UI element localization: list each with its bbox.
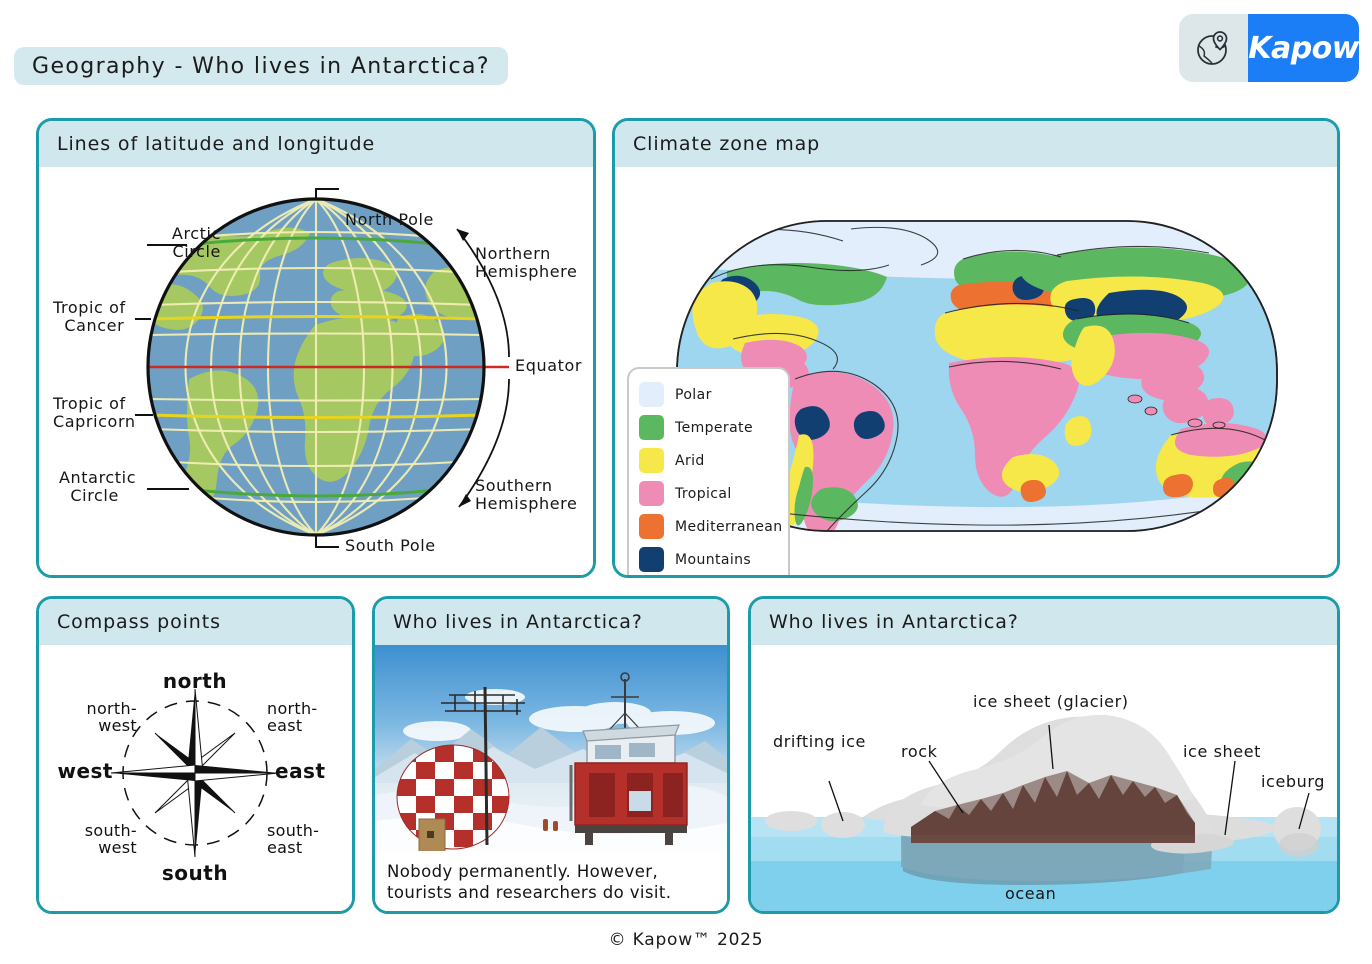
label-northern-hemisphere: Northern Hemisphere: [475, 245, 577, 282]
label-equator: Equator: [515, 357, 582, 375]
legend-swatch-tropical: [639, 481, 664, 506]
legend-item-mediterranean: Mediterranean: [639, 510, 780, 543]
label-iceburg: iceburg: [1261, 773, 1325, 791]
legend-item-tropical: Tropical: [639, 477, 780, 510]
antarctic-station-photo: [375, 645, 727, 851]
label-arctic-circle: Arctic Circle: [135, 225, 221, 262]
legend-swatch-mountains: [639, 547, 664, 572]
legend-label-polar: Polar: [675, 387, 712, 403]
compass-label-east: east: [275, 761, 347, 782]
label-antarctic-circle: Antarctic Circle: [59, 469, 136, 506]
globe-diagram: [39, 167, 593, 575]
panel-body-photo: Nobody permanently. However, tourists an…: [375, 645, 727, 911]
logo-wordmark: Kapow: [1248, 14, 1359, 82]
label-ice-sheet: ice sheet: [1183, 743, 1261, 761]
panel-title-icesheet: Who lives in Antarctica?: [751, 599, 1337, 645]
panel-ice-sheet-diagram: Who lives in Antarctica?: [748, 596, 1340, 914]
page-title: Geography - Who lives in Antarctica?: [14, 47, 508, 85]
legend-item-temperate: Temperate: [639, 411, 780, 444]
label-tropic-of-cancer: Tropic of Cancer: [53, 299, 126, 336]
compass-label-south-west: south- west: [45, 823, 137, 857]
legend-label-arid: Arid: [675, 453, 705, 469]
globe-pin-icon: [1179, 14, 1248, 82]
panel-compass-points: Compass points: [36, 596, 355, 914]
antarctica-cross-section: [751, 645, 1337, 911]
panel-body-compass: north north- east east south- east south…: [39, 645, 352, 911]
legend-item-polar: Polar: [639, 378, 780, 411]
panel-title-photo: Who lives in Antarctica?: [375, 599, 727, 645]
legend-swatch-arid: [639, 448, 664, 473]
legend-label-mountains: Mountains: [675, 552, 751, 568]
label-north-pole: North Pole: [345, 211, 434, 229]
label-tropic-of-capricorn: Tropic of Capricorn: [53, 395, 136, 432]
panel-title-climate: Climate zone map: [615, 121, 1337, 167]
legend-label-mediterranean: Mediterranean: [675, 519, 783, 535]
compass-label-west: west: [43, 761, 113, 782]
legend-label-temperate: Temperate: [675, 420, 753, 436]
kapow-logo[interactable]: Kapow: [1179, 14, 1359, 82]
panel-body-climate: Polar Temperate Arid Tropical Mediterran…: [615, 167, 1337, 575]
label-south-pole: South Pole: [345, 537, 436, 555]
legend-item-arid: Arid: [639, 444, 780, 477]
panel-who-lives-photo: Who lives in Antarctica?: [372, 596, 730, 914]
legend-swatch-polar: [639, 382, 664, 407]
climate-legend: Polar Temperate Arid Tropical Mediterran…: [627, 367, 790, 578]
legend-swatch-mediterranean: [639, 514, 664, 539]
label-drifting-ice: drifting ice: [773, 733, 866, 751]
page-header: Geography - Who lives in Antarctica? Kap…: [0, 0, 1372, 100]
panel-climate-zone-map: Climate zone map: [612, 118, 1340, 578]
compass-label-south-east: south- east: [267, 823, 347, 857]
label-ice-sheet-glacier: ice sheet (glacier): [973, 693, 1129, 711]
legend-swatch-temperate: [639, 415, 664, 440]
legend-label-tropical: Tropical: [675, 486, 732, 502]
panel-body-latlong: North Pole Arctic Circle Tropic of Cance…: [39, 167, 593, 575]
panel-title-latlong: Lines of latitude and longitude: [39, 121, 593, 167]
label-rock: rock: [901, 743, 937, 761]
footer-copyright: © Kapow™ 2025: [0, 930, 1372, 950]
compass-label-north: north: [155, 671, 235, 692]
panel-title-compass: Compass points: [39, 599, 352, 645]
label-southern-hemisphere: Southern Hemisphere: [475, 477, 577, 514]
compass-label-north-west: north- west: [45, 701, 137, 735]
compass-label-north-east: north- east: [267, 701, 347, 735]
label-ocean: ocean: [1005, 885, 1056, 903]
photo-caption: Nobody permanently. However, tourists an…: [375, 855, 727, 911]
legend-item-mountains: Mountains: [639, 543, 780, 576]
compass-label-south: south: [155, 863, 235, 884]
logo-text: Kapow: [1248, 31, 1359, 66]
panel-lines-of-latitude-and-longitude: Lines of latitude and longitude: [36, 118, 596, 578]
panel-body-icesheet: drifting ice rock ice sheet (glacier) ic…: [751, 645, 1337, 911]
